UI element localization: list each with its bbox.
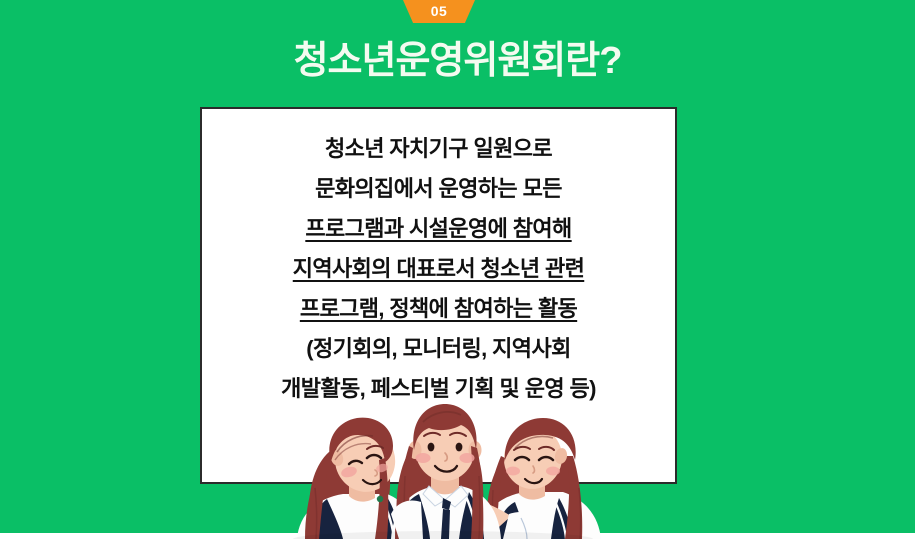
section-number-label: 05 <box>431 4 448 19</box>
page-title: 청소년운영위원회란? <box>0 41 915 83</box>
card-line: (정기회의, 모니터링, 지역사회 <box>202 329 675 369</box>
card-line: 청소년 자치기구 일원으로 <box>202 129 675 169</box>
card-line: 프로그램, 정책에 참여하는 활동 <box>202 289 675 329</box>
slide-canvas: 05 청소년운영위원회란? 청소년 자치기구 일원으로 문화의집에서 운영하는 … <box>0 0 915 539</box>
card-line: 지역사회의 대표로서 청소년 관련 <box>202 249 675 289</box>
card-line: 개발활동, 페스티벌 기획 및 운영 등) <box>202 369 675 409</box>
card-line: 문화의집에서 운영하는 모든 <box>202 169 675 209</box>
card-text-block: 청소년 자치기구 일원으로 문화의집에서 운영하는 모든 프로그램과 시설운영에… <box>202 109 675 409</box>
content-card: 청소년 자치기구 일원으로 문화의집에서 운영하는 모든 프로그램과 시설운영에… <box>200 107 677 484</box>
section-number-tab: 05 <box>403 0 475 23</box>
bottom-white-strip <box>0 533 915 539</box>
card-line: 프로그램과 시설운영에 참여해 <box>202 209 675 249</box>
